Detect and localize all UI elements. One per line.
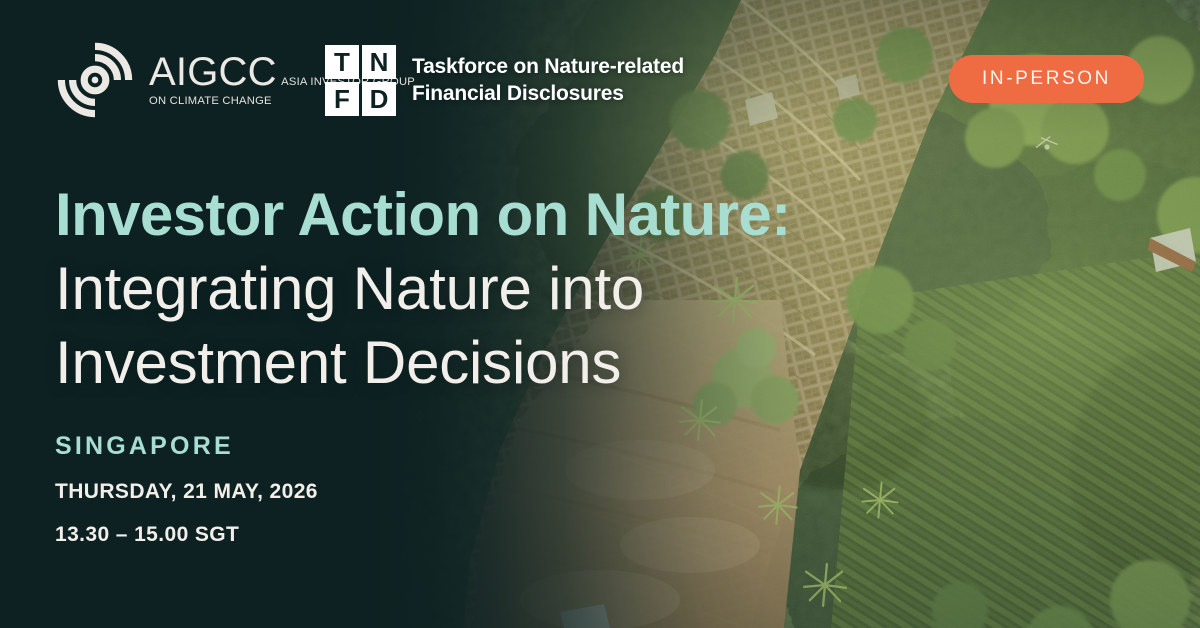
tnfd-letter-d: D xyxy=(362,82,396,116)
event-date: THURSDAY, 21 MAY, 2026 xyxy=(55,481,318,502)
title-line-1: Investor Action on Nature: xyxy=(55,178,791,252)
tnfd-letter-t: T xyxy=(325,45,359,79)
title-line-2: Integrating Nature into xyxy=(55,252,791,326)
tnfd-square-grid-icon: T N F D xyxy=(325,45,396,116)
aigcc-radar-icon xyxy=(55,40,135,120)
title-line-3: Investment Decisions xyxy=(55,326,791,400)
in-person-badge[interactable]: IN-PERSON xyxy=(949,55,1144,103)
event-city: SINGAPORE xyxy=(55,434,318,459)
event-banner: AIGCC ASIA INVESTOR GROUP ON CLIMATE CHA… xyxy=(0,0,1200,628)
tnfd-wordmark: Taskforce on Nature-related Financial Di… xyxy=(412,54,684,107)
event-title: Investor Action on Nature: Integrating N… xyxy=(55,178,791,400)
banner-content: AIGCC ASIA INVESTOR GROUP ON CLIMATE CHA… xyxy=(0,0,1200,628)
tnfd-letter-n: N xyxy=(362,45,396,79)
tnfd-logo[interactable]: T N F D Taskforce on Nature-related Fina… xyxy=(325,45,684,116)
event-time: 13.30 – 15.00 SGT xyxy=(55,524,318,545)
aigcc-name: AIGCC xyxy=(149,50,277,94)
event-details: SINGAPORE THURSDAY, 21 MAY, 2026 13.30 –… xyxy=(55,434,318,545)
tnfd-letter-f: F xyxy=(325,82,359,116)
